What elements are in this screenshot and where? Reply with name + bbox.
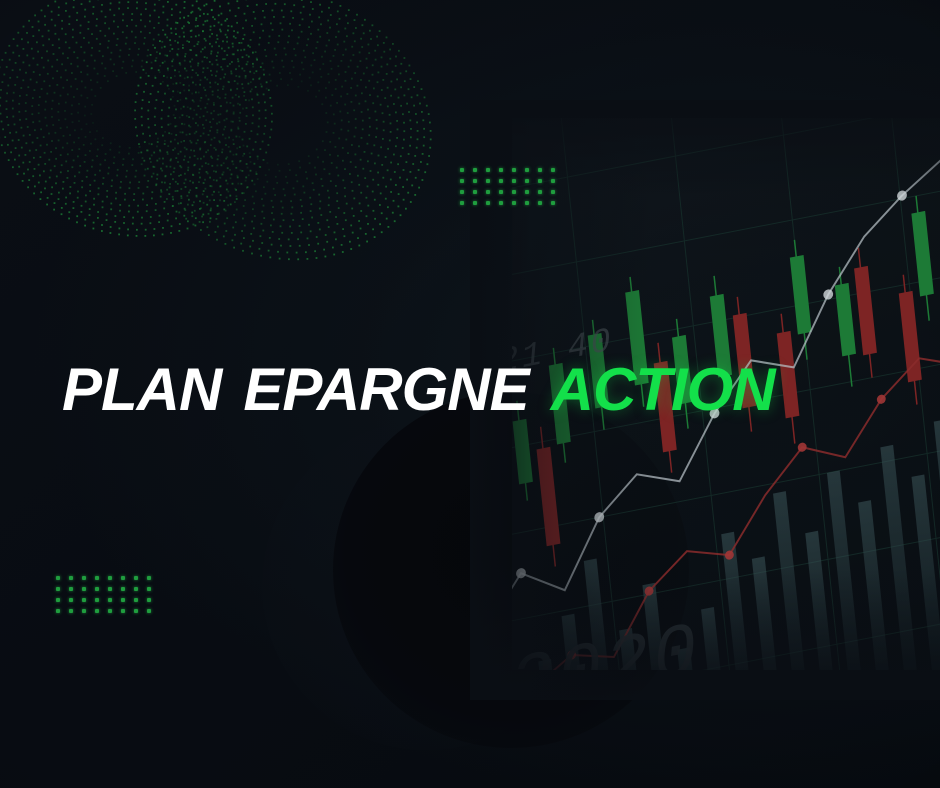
grid-dot xyxy=(499,201,503,205)
headline-word-plan: PLAN xyxy=(62,360,221,420)
grid-dot xyxy=(460,179,464,183)
grid-dot xyxy=(121,587,125,591)
grid-dot xyxy=(512,201,516,205)
grid-dot xyxy=(108,587,112,591)
grid-dot xyxy=(473,168,477,172)
grid-dot xyxy=(473,179,477,183)
headline-word-epargne: EPARGNE xyxy=(243,360,528,420)
grid-dot xyxy=(486,179,490,183)
grid-dot xyxy=(512,179,516,183)
grid-dot xyxy=(95,609,99,613)
grid-dot xyxy=(108,598,112,602)
grid-dot xyxy=(499,179,503,183)
grid-dot xyxy=(460,201,464,205)
grid-dot xyxy=(486,190,490,194)
grid-dot xyxy=(551,168,555,172)
grid-dot xyxy=(69,609,73,613)
grid-dot xyxy=(134,598,138,602)
grid-dot xyxy=(95,587,99,591)
grid-dot xyxy=(486,201,490,205)
grid-dot xyxy=(56,576,60,580)
headline-word-action: ACTION xyxy=(551,360,775,420)
particle-torus-swirl-icon xyxy=(0,0,452,294)
grid-dot xyxy=(551,190,555,194)
grid-dot xyxy=(460,190,464,194)
grid-dot xyxy=(56,609,60,613)
plan-epargne-action-banner: 21 40 59 2020 PLAN EPARGNE ACTION xyxy=(0,0,940,788)
grid-dot xyxy=(538,179,542,183)
grid-dot xyxy=(69,587,73,591)
grid-dot xyxy=(69,598,73,602)
grid-dot xyxy=(82,587,86,591)
grid-dot xyxy=(499,168,503,172)
grid-dot xyxy=(95,576,99,580)
grid-dot xyxy=(538,201,542,205)
dot-grid-bottom xyxy=(56,576,160,620)
grid-dot xyxy=(486,168,490,172)
grid-dot xyxy=(69,576,73,580)
dot-grid-top xyxy=(460,168,564,212)
grid-dot xyxy=(525,190,529,194)
grid-dot xyxy=(473,190,477,194)
grid-dot xyxy=(108,576,112,580)
grid-dot xyxy=(134,609,138,613)
grid-dot xyxy=(551,201,555,205)
grid-dot xyxy=(147,587,151,591)
grid-dot xyxy=(82,598,86,602)
grid-dot xyxy=(499,190,503,194)
grid-dot xyxy=(538,168,542,172)
grid-dot xyxy=(525,168,529,172)
grid-dot xyxy=(121,598,125,602)
grid-dot xyxy=(56,598,60,602)
grid-dot xyxy=(134,587,138,591)
grid-dot xyxy=(147,576,151,580)
grid-dot xyxy=(82,609,86,613)
grid-dot xyxy=(460,168,464,172)
grid-dot xyxy=(147,598,151,602)
grid-dot xyxy=(551,179,555,183)
grid-dot xyxy=(512,190,516,194)
grid-dot xyxy=(473,201,477,205)
grid-dot xyxy=(134,576,138,580)
grid-dot xyxy=(121,576,125,580)
grid-dot xyxy=(538,190,542,194)
headline: PLAN EPARGNE ACTION xyxy=(62,360,775,420)
grid-dot xyxy=(121,609,125,613)
grid-dot xyxy=(525,201,529,205)
grid-dot xyxy=(56,587,60,591)
grid-dot xyxy=(525,179,529,183)
grid-dot xyxy=(512,168,516,172)
grid-dot xyxy=(147,609,151,613)
grid-dot xyxy=(108,609,112,613)
grid-dot xyxy=(95,598,99,602)
grid-dot xyxy=(82,576,86,580)
